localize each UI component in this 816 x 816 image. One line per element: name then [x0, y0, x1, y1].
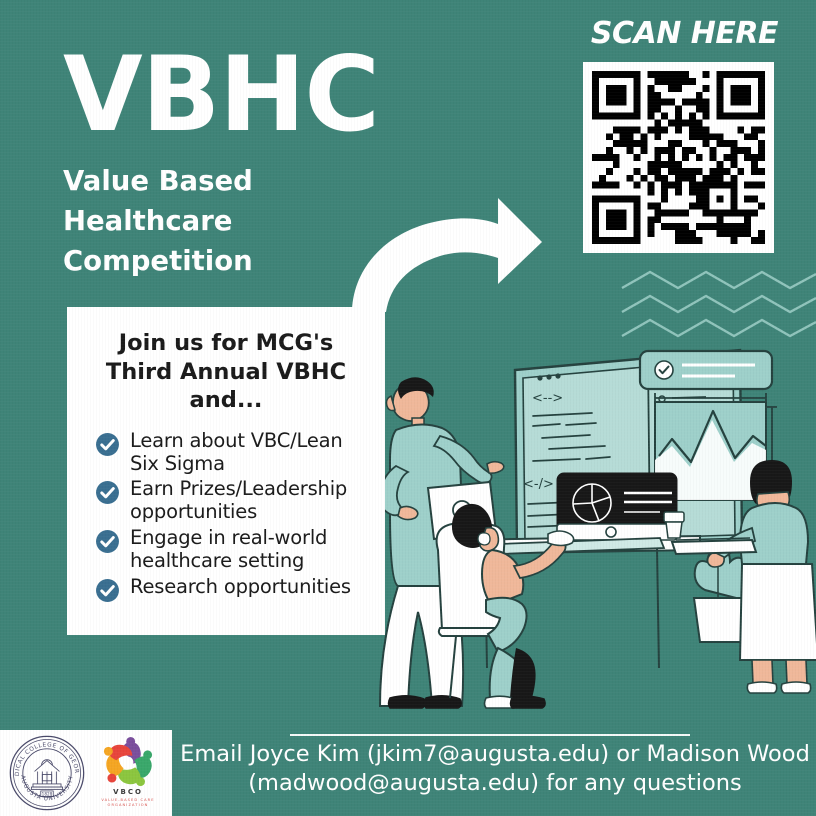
footer-divider	[290, 734, 690, 736]
info-card: Join us for MCG's Third Annual VBHC and.…	[67, 307, 385, 635]
code-tag-top: <-->	[532, 391, 563, 406]
vbco-logo: VBCO VALUE-BASED CARE ORGANIZATION	[92, 733, 164, 813]
check-circle-icon	[95, 480, 120, 505]
qr-code[interactable]	[583, 62, 774, 253]
coffee-cup	[664, 512, 684, 538]
contact-text: Email Joyce Kim (jkim7@augusta.edu) or M…	[180, 740, 810, 799]
list-item-label: Research opportunities	[130, 576, 351, 599]
list-item: Engage in real-world healthcare setting	[95, 527, 369, 573]
page-title: VBHC	[63, 48, 379, 143]
card-heading: Join us for MCG's Third Annual VBHC and.…	[83, 329, 369, 415]
vbco-people-icon	[100, 737, 156, 787]
check-circle-icon	[95, 578, 120, 603]
list-item: Learn about VBC/Lean Six Sigma	[95, 430, 369, 476]
logo-box: MEDICAL COLLEGE OF GEORGIA AUGUSTA UNIVE…	[0, 730, 172, 816]
footer: MEDICAL COLLEGE OF GEORGIA AUGUSTA UNIVE…	[0, 730, 816, 816]
list-item: Earn Prizes/Leadership opportunities	[95, 478, 369, 524]
poster-canvas: <--> <-/>	[0, 0, 816, 816]
list-item-label: Learn about VBC/Lean Six Sigma	[130, 430, 369, 476]
curved-arrow-icon	[330, 180, 560, 315]
qr-code-canvas	[592, 71, 765, 244]
check-circle-icon	[95, 432, 120, 457]
notification-card	[640, 351, 772, 389]
contact-line-1: Email Joyce Kim (jkim7@augusta.edu) or M…	[180, 740, 810, 769]
contact-line-2: (madwood@augusta.edu) for any questions	[180, 769, 810, 798]
zigzag-pattern	[622, 272, 816, 336]
code-tag-bottom: <-/>	[523, 477, 554, 492]
list-item-label: Earn Prizes/Leadership opportunities	[130, 478, 369, 524]
check-circle-icon	[95, 529, 120, 554]
mcg-year: 1828	[42, 791, 53, 796]
vbco-name: VBCO	[113, 788, 143, 796]
vbco-tagline-line-2: ORGANIZATION	[101, 803, 154, 808]
list-item-label: Engage in real-world healthcare setting	[130, 527, 369, 573]
scan-here-label: SCAN HERE	[591, 16, 778, 51]
mcg-seal-logo: MEDICAL COLLEGE OF GEORGIA AUGUSTA UNIVE…	[8, 734, 86, 812]
benefits-list: Learn about VBC/Lean Six Sigma Earn Priz…	[83, 430, 369, 603]
vbco-tagline: VALUE-BASED CARE ORGANIZATION	[101, 798, 154, 809]
list-item: Research opportunities	[95, 576, 369, 603]
